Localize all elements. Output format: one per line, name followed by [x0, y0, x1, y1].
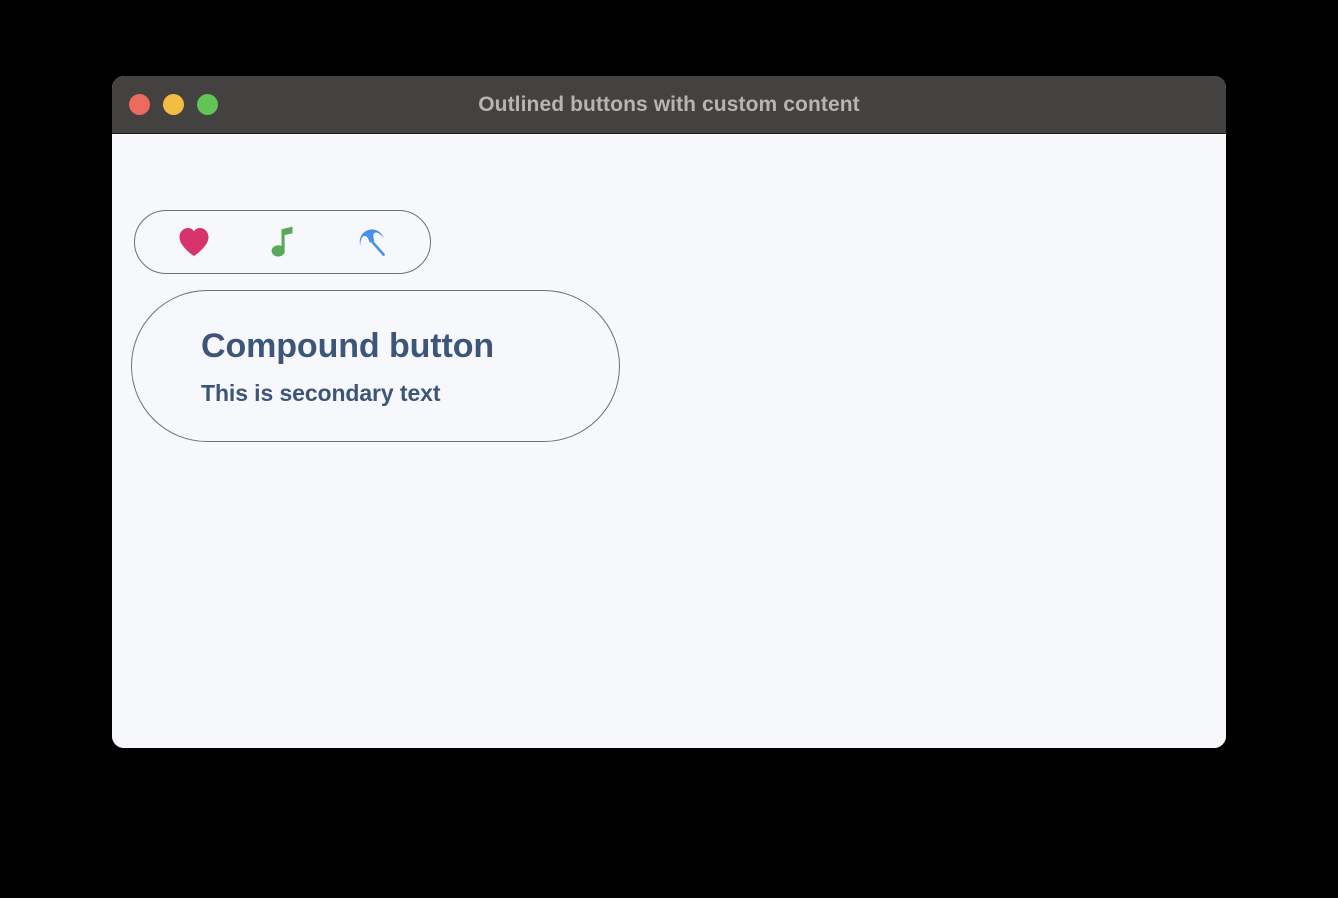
app-window: Outlined buttons with custom content: [112, 76, 1226, 748]
minimize-window-button[interactable]: [163, 94, 184, 115]
segment-beach-umbrella[interactable]: [327, 211, 416, 273]
music-note-icon: [271, 226, 295, 258]
traffic-light-group: [129, 76, 218, 133]
compound-button[interactable]: Compound button This is secondary text: [131, 290, 620, 442]
heart-icon: [178, 227, 210, 257]
segment-heart[interactable]: [149, 211, 238, 273]
maximize-window-button[interactable]: [197, 94, 218, 115]
window-content: Compound button This is secondary text: [112, 134, 1226, 748]
window-titlebar: Outlined buttons with custom content: [112, 76, 1226, 134]
close-window-button[interactable]: [129, 94, 150, 115]
compound-button-secondary-text: This is secondary text: [201, 380, 440, 406]
beach-umbrella-icon: [356, 226, 388, 258]
compound-button-primary-text: Compound button: [201, 326, 494, 366]
window-title: Outlined buttons with custom content: [112, 93, 1226, 117]
segment-music-note[interactable]: [238, 211, 327, 273]
icon-segmented-button[interactable]: [134, 210, 431, 274]
